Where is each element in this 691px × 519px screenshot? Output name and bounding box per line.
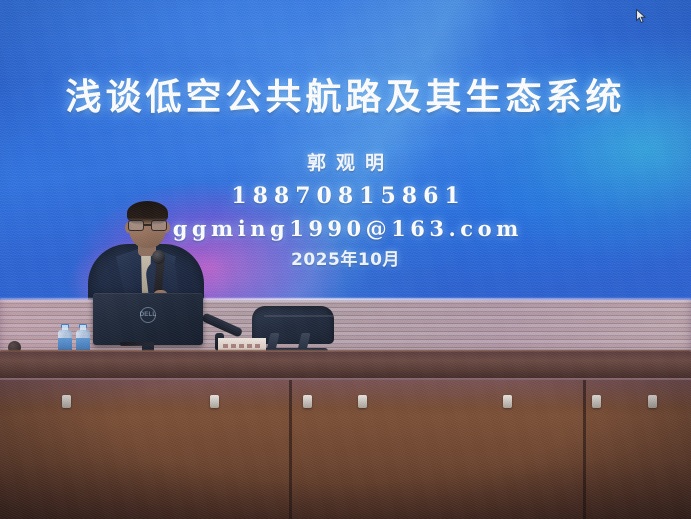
eyeglasses-icon (128, 220, 167, 231)
desk-front-panel (0, 380, 691, 519)
desk-panel-seam (289, 380, 292, 519)
dell-logo-icon: DELL (140, 307, 156, 323)
slide-title: 浅谈低空公共航路及其生态系统 (0, 76, 691, 120)
bottle-label (76, 338, 90, 350)
desktop-monitor: DELL (93, 293, 203, 357)
monitor-rear-panel: DELL (93, 293, 203, 345)
desk-clip (648, 395, 657, 408)
chair-seam (264, 315, 334, 317)
desk-clip (592, 395, 601, 408)
slide-presenter-name: 郭观明 (0, 150, 691, 176)
mouse-pointer-icon (636, 9, 647, 24)
desk-cable (120, 342, 154, 346)
desk-panel-seam (583, 380, 586, 519)
desk-clip (503, 395, 512, 408)
desk-clip (303, 395, 312, 408)
desk-clip (210, 395, 219, 408)
bottle-label (58, 338, 72, 350)
conference-photo: 浅谈低空公共航路及其生态系统 郭观明 18870815861 ggming199… (0, 0, 691, 519)
desk-clip (62, 395, 71, 408)
desk-clip (358, 395, 367, 408)
